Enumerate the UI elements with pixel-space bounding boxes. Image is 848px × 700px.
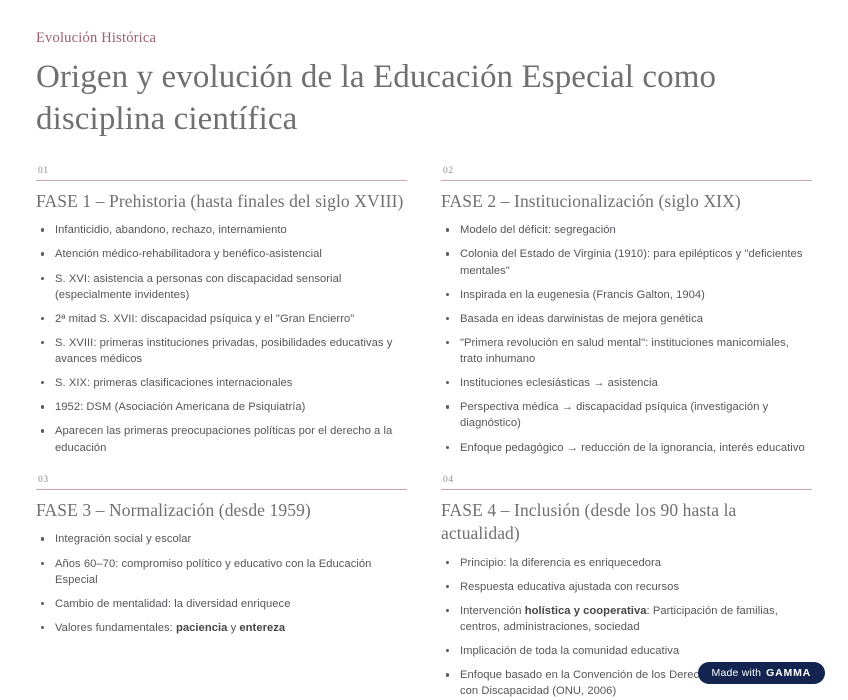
phase-bullet-list: Integración social y escolarAños 60–70: … <box>36 531 407 636</box>
bullet-item: Infanticidio, abandono, rechazo, interna… <box>36 222 407 238</box>
phase-divider <box>441 180 812 181</box>
bullet-item: Colonia del Estado de Virginia (1910): p… <box>441 246 812 278</box>
bullet-item: Instituciones eclesiásticas → asistencia <box>441 375 812 391</box>
phase-bullet-list: Modelo del déficit: segregaciónColonia d… <box>441 222 812 455</box>
bullet-item: Intervención holística y cooperativa: Pa… <box>441 603 812 635</box>
bullet-item: Respuesta educativa ajustada con recurso… <box>441 579 812 595</box>
phase-number: 02 <box>443 167 812 177</box>
bullet-item: Perspectiva médica → discapacidad psíqui… <box>441 399 812 431</box>
phase-title: FASE 3 – Normalización (desde 1959) <box>36 499 407 522</box>
phase-card: 02FASE 2 – Institucionalización (siglo X… <box>441 167 812 456</box>
bullet-item: Inspirada en la eugenesia (Francis Galto… <box>441 287 812 303</box>
phase-bullet-list: Infanticidio, abandono, rechazo, interna… <box>36 222 407 455</box>
phase-card: 01FASE 1 – Prehistoria (hasta finales de… <box>36 167 407 456</box>
phase-number: 04 <box>443 476 812 486</box>
bullet-item: Valores fundamentales: paciencia y enter… <box>36 620 407 636</box>
bullet-item: Atención médico-rehabilitadora y benéfic… <box>36 246 407 262</box>
phase-divider <box>36 489 407 490</box>
bullet-item: "Primera revolución en salud mental": in… <box>441 335 812 367</box>
bullet-item: Implicación de toda la comunidad educati… <box>441 643 812 659</box>
bullet-item: Integración social y escolar <box>36 531 407 547</box>
phase-divider <box>441 489 812 490</box>
bullet-item: Modelo del déficit: segregación <box>441 222 812 238</box>
badge-brand-label: GAMMA <box>766 668 811 679</box>
bullet-item: S. XVIII: primeras instituciones privada… <box>36 335 407 367</box>
phase-title: FASE 4 – Inclusión (desde los 90 hasta l… <box>441 499 812 546</box>
phase-title: FASE 2 – Institucionalización (siglo XIX… <box>441 190 812 213</box>
made-with-gamma-badge[interactable]: Made with GAMMA <box>698 662 825 685</box>
bullet-item: S. XVI: asistencia a personas con discap… <box>36 271 407 303</box>
bullet-item: Cambio de mentalidad: la diversidad enri… <box>36 596 407 612</box>
phase-number: 01 <box>38 167 407 177</box>
phase-divider <box>36 180 407 181</box>
bullet-item: 2ª mitad S. XVII: discapacidad psíquica … <box>36 311 407 327</box>
bullet-item: Basada en ideas darwinistas de mejora ge… <box>441 311 812 327</box>
bullet-item: Enfoque pedagógico → reducción de la ign… <box>441 440 812 456</box>
phase-card: 03FASE 3 – Normalización (desde 1959)Int… <box>36 476 407 700</box>
bullet-item: S. XIX: primeras clasificaciones interna… <box>36 375 407 391</box>
eyebrow-label: Evolución Histórica <box>36 30 812 47</box>
page-title: Origen y evolución de la Educación Espec… <box>36 57 796 140</box>
phase-title: FASE 1 – Prehistoria (hasta finales del … <box>36 190 407 213</box>
bullet-item: Aparecen las primeras preocupaciones pol… <box>36 423 407 455</box>
phase-grid: 01FASE 1 – Prehistoria (hasta finales de… <box>36 167 812 700</box>
bullet-item: Años 60–70: compromiso político y educat… <box>36 556 407 588</box>
bullet-item: 1952: DSM (Asociación Americana de Psiqu… <box>36 399 407 415</box>
phase-number: 03 <box>38 476 407 486</box>
badge-prefix-label: Made with <box>712 668 762 679</box>
slide-root: Evolución Histórica Origen y evolución d… <box>0 0 848 698</box>
header: Evolución Histórica Origen y evolución d… <box>36 30 812 141</box>
bullet-item: Principio: la diferencia es enriquecedor… <box>441 555 812 571</box>
